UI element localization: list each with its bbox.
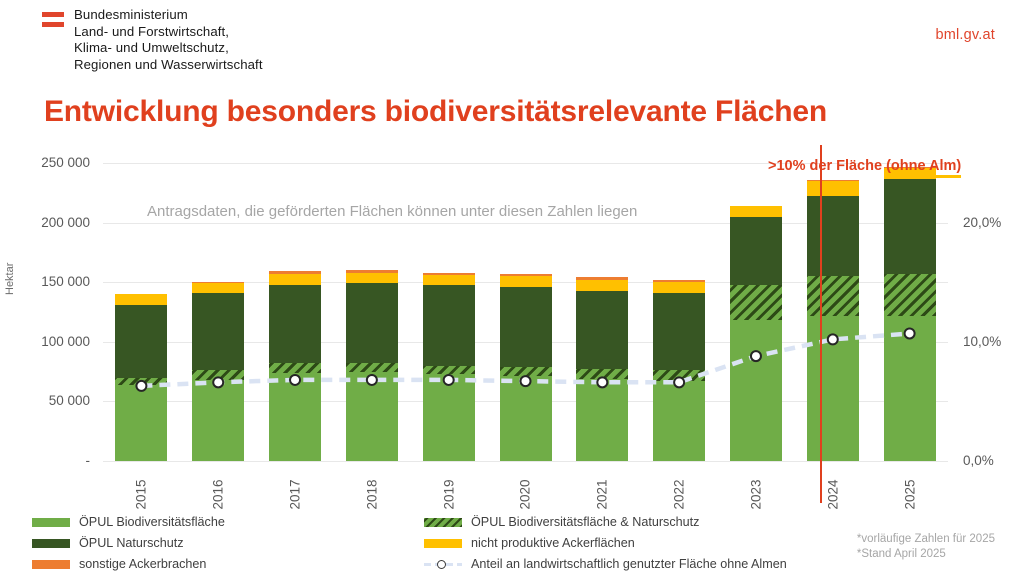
- legend-label: nicht produktive Ackerflächen: [471, 536, 635, 550]
- bar-segment-natur[interactable]: [653, 293, 705, 370]
- bar-segment-brach[interactable]: [192, 282, 244, 283]
- y2-axis-tick-label: 10,0%: [963, 336, 1001, 348]
- bar-segment-biod[interactable]: [192, 380, 244, 461]
- legend-item[interactable]: Anteil an landwirtschaftlich genutzter F…: [424, 554, 787, 574]
- y-axis-tick-label: 50 000: [16, 395, 90, 407]
- bar-segment-nprod[interactable]: [269, 274, 321, 285]
- bar-segment-brach[interactable]: [423, 273, 475, 275]
- bar-segment-nprod[interactable]: [807, 181, 859, 196]
- bar-segment-brach[interactable]: [269, 271, 321, 273]
- legend-label: sonstige Ackerbrachen: [79, 557, 206, 571]
- bar-segment-biod[interactable]: [423, 374, 475, 461]
- legend-item[interactable]: nicht produktive Ackerflächen: [424, 533, 787, 553]
- x-axis-tick-label: 2021: [576, 467, 628, 502]
- legend-label: ÖPUL Biodiversitätsfläche & Naturschutz: [471, 515, 699, 529]
- legend-column-left: ÖPUL BiodiversitätsflächeÖPUL Naturschut…: [32, 512, 225, 575]
- bar-segment-natur[interactable]: [346, 283, 398, 363]
- legend-label: ÖPUL Biodiversitätsfläche: [79, 515, 225, 529]
- legend-column-right: ÖPUL Biodiversitätsfläche & Naturschutzn…: [424, 512, 787, 575]
- y-axis-tick-label: -: [16, 455, 90, 467]
- y-axis-tick-label: 200 000: [16, 217, 90, 229]
- bar-segment-both[interactable]: [500, 367, 552, 377]
- legend-swatch-brach-icon: [32, 560, 70, 569]
- x-axis-tick-label: 2024: [807, 467, 859, 502]
- legend-item[interactable]: sonstige Ackerbrachen: [32, 554, 225, 574]
- bar-segment-nprod[interactable]: [346, 273, 398, 284]
- y-axis-tick-label: 150 000: [16, 276, 90, 288]
- phase-label: >10% der Fläche (ohne Alm): [768, 158, 961, 174]
- bar-segment-biod[interactable]: [730, 320, 782, 461]
- bar-segment-both[interactable]: [653, 370, 705, 381]
- legend-item[interactable]: ÖPUL Biodiversitätsfläche: [32, 512, 225, 532]
- bar-segment-brach[interactable]: [346, 270, 398, 272]
- y-axis-right: 0,0%10,0%20,0%: [947, 145, 1017, 475]
- bar-segment-natur[interactable]: [807, 196, 859, 276]
- bar-segment-nprod[interactable]: [115, 294, 167, 305]
- bar-segment-biod[interactable]: [576, 379, 628, 461]
- bar-segment-biod[interactable]: [269, 373, 321, 461]
- page-header: Bundesministerium Land- und Forstwirtsch…: [0, 0, 1023, 86]
- bar-segment-biod[interactable]: [346, 372, 398, 461]
- bar-segment-brach[interactable]: [576, 277, 628, 279]
- legend-item[interactable]: ÖPUL Naturschutz: [32, 533, 225, 553]
- legend-label: Anteil an landwirtschaftlich genutzter F…: [471, 557, 787, 571]
- chart-legend: ÖPUL BiodiversitätsflächeÖPUL Naturschut…: [0, 512, 1023, 576]
- bar-segment-both[interactable]: [192, 370, 244, 380]
- bar-group[interactable]: 2025: [884, 163, 936, 461]
- bar-segment-both[interactable]: [884, 274, 936, 316]
- x-axis-tick-label: 2023: [730, 467, 782, 502]
- bar-segment-nprod[interactable]: [576, 280, 628, 291]
- footnotes: *vorläufige Zahlen für 2025 *Stand April…: [857, 532, 995, 562]
- bar-segment-natur[interactable]: [730, 217, 782, 285]
- bar-group[interactable]: 2017: [269, 163, 321, 461]
- bar-segment-both[interactable]: [346, 363, 398, 371]
- page-title: Entwicklung besonders biodiversitätsrele…: [44, 94, 944, 130]
- bar-segment-natur[interactable]: [192, 293, 244, 370]
- site-url-link[interactable]: bml.gv.at: [935, 27, 995, 43]
- bar-segment-both[interactable]: [807, 276, 859, 315]
- bar-group[interactable]: 2024: [807, 163, 859, 461]
- x-axis-tick-label: 2016: [192, 467, 244, 502]
- bar-segment-nprod[interactable]: [423, 275, 475, 285]
- y-axis-tick-label: 250 000: [16, 157, 90, 169]
- bar-segment-nprod[interactable]: [730, 206, 782, 217]
- bar-group[interactable]: 2020: [500, 163, 552, 461]
- bar-segment-nprod[interactable]: [500, 276, 552, 287]
- y2-axis-tick-label: 0,0%: [963, 455, 994, 467]
- phase-label-text-2: (ohne Alm): [886, 158, 961, 178]
- y2-axis-tick-label: 20,0%: [963, 217, 1001, 229]
- bar-segment-brach[interactable]: [807, 180, 859, 181]
- bar-segment-both[interactable]: [269, 363, 321, 373]
- bar-segment-natur[interactable]: [884, 179, 936, 274]
- bar-segment-brach[interactable]: [500, 274, 552, 276]
- bar-segment-biod[interactable]: [115, 385, 167, 461]
- bar-segment-natur[interactable]: [269, 285, 321, 364]
- x-axis-tick-label: 2019: [423, 467, 475, 502]
- bar-segment-biod[interactable]: [884, 316, 936, 461]
- bar-group[interactable]: 2016: [192, 163, 244, 461]
- phase-label-text-1: >10% der Fläche: [768, 158, 886, 174]
- bar-segment-brach[interactable]: [653, 280, 705, 282]
- bar-segment-natur[interactable]: [500, 287, 552, 367]
- legend-swatch-biod-icon: [32, 518, 70, 527]
- bar-group[interactable]: 2019: [423, 163, 475, 461]
- plot-area: Antragsdaten, die geförderten Flächen kö…: [103, 163, 948, 461]
- bar-segment-natur[interactable]: [423, 285, 475, 366]
- bar-segment-nprod[interactable]: [653, 282, 705, 293]
- x-axis-tick-label: 2022: [653, 467, 705, 502]
- austria-flag-mark-icon: [42, 12, 64, 28]
- x-axis-tick-label: 2025: [884, 467, 936, 502]
- bar-segment-both[interactable]: [730, 285, 782, 321]
- legend-swatch-line-icon: [424, 560, 462, 569]
- x-axis-tick-label: 2015: [115, 467, 167, 502]
- x-axis-tick-label: 2017: [269, 467, 321, 502]
- y-axis-left: -50 000100 000150 000200 000250 000: [12, 145, 100, 475]
- chart-container: Hektar -50 000100 000150 000200 000250 0…: [0, 145, 1023, 520]
- y-axis-tick-label: 100 000: [16, 336, 90, 348]
- bar-group[interactable]: 2015: [115, 163, 167, 461]
- x-axis-tick-label: 2018: [346, 467, 398, 502]
- legend-swatch-both-icon: [424, 518, 462, 527]
- bar-segment-natur[interactable]: [115, 305, 167, 378]
- legend-swatch-nprod-icon: [424, 539, 462, 548]
- legend-item[interactable]: ÖPUL Biodiversitätsfläche & Naturschutz: [424, 512, 787, 532]
- bar-segment-both[interactable]: [576, 369, 628, 379]
- bar-segment-natur[interactable]: [576, 291, 628, 370]
- phase-divider: [820, 145, 822, 503]
- legend-label: ÖPUL Naturschutz: [79, 536, 184, 550]
- bar-segment-biod[interactable]: [500, 376, 552, 461]
- x-axis-tick-label: 2020: [500, 467, 552, 502]
- bar-segment-nprod[interactable]: [192, 283, 244, 293]
- bar-group[interactable]: 2023: [730, 163, 782, 461]
- bar-segment-biod[interactable]: [653, 381, 705, 461]
- bar-segment-biod[interactable]: [807, 316, 859, 461]
- bar-group[interactable]: 2022: [653, 163, 705, 461]
- bar-segment-both[interactable]: [115, 378, 167, 385]
- bar-segment-both[interactable]: [423, 366, 475, 374]
- bar-group[interactable]: 2018: [346, 163, 398, 461]
- ministry-name: Bundesministerium Land- und Forstwirtsch…: [74, 7, 494, 73]
- legend-swatch-natur-icon: [32, 539, 70, 548]
- bar-group[interactable]: 2021: [576, 163, 628, 461]
